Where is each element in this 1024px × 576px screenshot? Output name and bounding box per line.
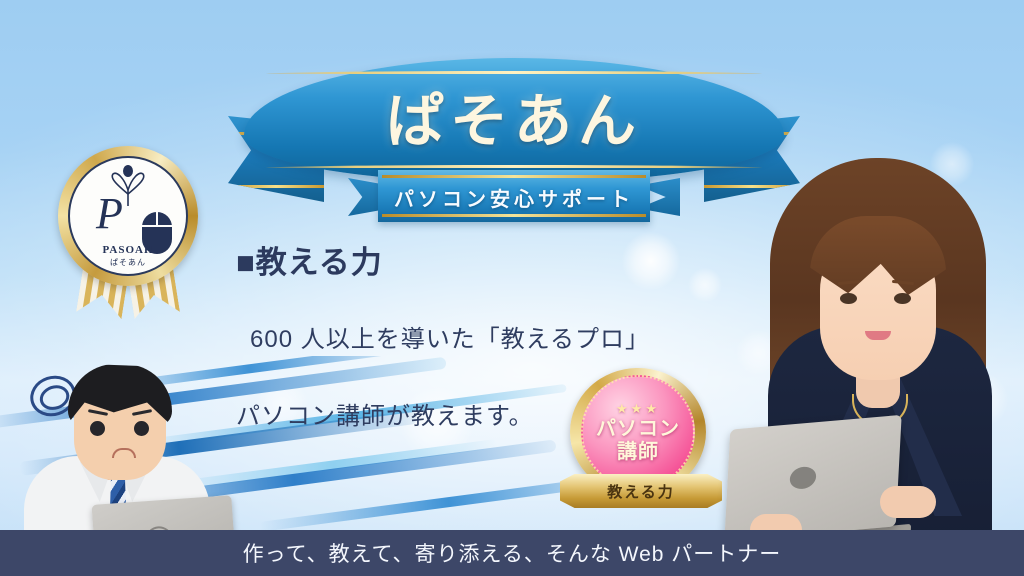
brand-subtitle: パソコン安心サポート	[348, 183, 680, 212]
laptop-logo-icon	[789, 466, 816, 490]
logo-brand-text: PASOAH	[58, 244, 198, 256]
ribbon-arc: ぱそあん	[244, 58, 784, 182]
badge-pink-face: ★★★ パソコン 講師	[581, 375, 695, 489]
rosette-gold-disc: P PASOAH ぱそあん	[58, 146, 198, 286]
badge-gold-band: 教える力	[560, 474, 722, 508]
monogram-p: P	[95, 189, 123, 238]
female-instructor-illustration	[740, 116, 1016, 576]
customer-eye-right	[134, 421, 149, 436]
copy-line-1: 600 人以上を導いた「教えるプロ」	[236, 319, 676, 354]
customer-eye-left	[90, 421, 105, 436]
poster-canvas: ぱそあん パソコン安心サポート P	[0, 0, 1024, 576]
instructor-eye-left	[840, 293, 857, 304]
instructor-hand-right	[880, 486, 936, 518]
subtitle-ribbon: パソコン安心サポート	[348, 170, 680, 224]
badge-stars-icon: ★★★	[616, 401, 660, 417]
copy-heading: ■教える力	[236, 244, 676, 281]
badge-line-1: パソコン	[596, 418, 680, 441]
brand-rosette-logo: P PASOAH ぱそあん	[52, 146, 204, 316]
instructor-badge: ★★★ パソコン 講師 教える力	[566, 368, 716, 514]
ribbon-gold-edge-bottom	[266, 165, 763, 168]
customer-mouth	[112, 448, 136, 458]
badge-line-2: 講師	[617, 441, 659, 464]
logo-kana-text: ぱそあん	[58, 257, 198, 268]
brand-title: ぱそあん	[244, 74, 784, 158]
subtitle-gold-line-top	[382, 175, 646, 178]
badge-band-label: 教える力	[607, 481, 675, 502]
subtitle-gold-line-bottom	[382, 214, 646, 217]
footer-tagline: 作って、教えて、寄り添える、そんな Web パートナー	[243, 538, 782, 568]
instructor-eye-right	[894, 293, 911, 304]
footer-tagline-bar: 作って、教えて、寄り添える、そんな Web パートナー	[0, 530, 1024, 576]
